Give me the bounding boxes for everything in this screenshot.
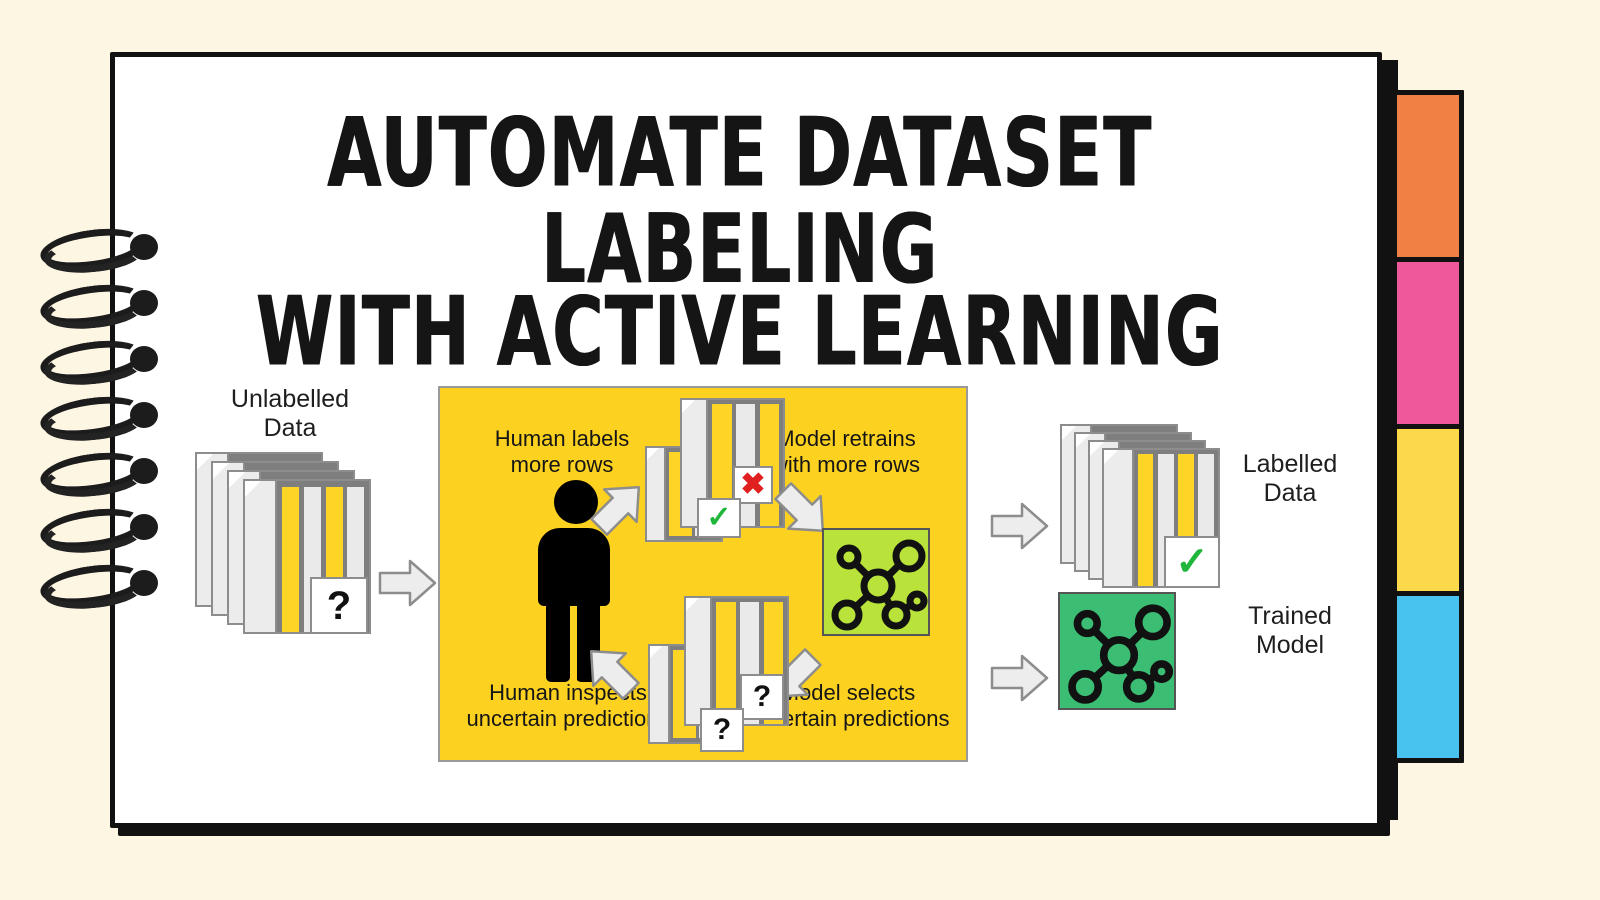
labelled-data-label: Labelled Data bbox=[1190, 450, 1390, 509]
model-icon-lime bbox=[822, 528, 930, 636]
unlabelled-data-stack: ? bbox=[195, 452, 375, 632]
labelled-check-badge: ✓ bbox=[1164, 536, 1220, 588]
arrow-input-to-loop bbox=[378, 557, 438, 609]
network-graph-icon bbox=[824, 530, 932, 638]
index-tab-orange[interactable] bbox=[1392, 90, 1464, 262]
active-learning-loop-panel: Human labels more rows Model retrains wi… bbox=[438, 386, 968, 762]
index-tab-stack bbox=[1386, 60, 1466, 820]
index-tab-yellow[interactable] bbox=[1392, 424, 1464, 596]
slide-canvas: AUTOMATE DATASET LABELING WITH ACTIVE LE… bbox=[0, 0, 1600, 900]
question-badge-upper: ? bbox=[740, 674, 784, 720]
index-tab-pink[interactable] bbox=[1392, 257, 1464, 429]
unlabelled-question-badge: ? bbox=[310, 577, 368, 634]
check-badge: ✓ bbox=[697, 498, 741, 538]
network-graph-icon bbox=[1060, 594, 1178, 712]
question-badge-lower: ? bbox=[700, 708, 744, 752]
arrow-human-to-labelled bbox=[588, 476, 650, 538]
uncertain-predictions-doc-stack: ? ? bbox=[648, 596, 808, 746]
loop-label-human-labels: Human labels more rows bbox=[462, 426, 662, 479]
unlabelled-data-label: Unlabelled Data bbox=[185, 385, 395, 444]
arrow-loop-to-trained-model bbox=[990, 652, 1050, 704]
trained-model-label: Trained Model bbox=[1190, 602, 1390, 661]
arrow-loop-to-labelled-data bbox=[990, 500, 1050, 552]
active-learning-diagram: Unlabelled Data bbox=[110, 52, 1382, 828]
index-tab-blue[interactable] bbox=[1392, 591, 1464, 763]
trained-model-icon bbox=[1058, 592, 1176, 710]
arrow-uncertain-to-human bbox=[580, 640, 642, 702]
loop-label-human-inspects: Human inspects uncertain predictions bbox=[458, 680, 678, 733]
